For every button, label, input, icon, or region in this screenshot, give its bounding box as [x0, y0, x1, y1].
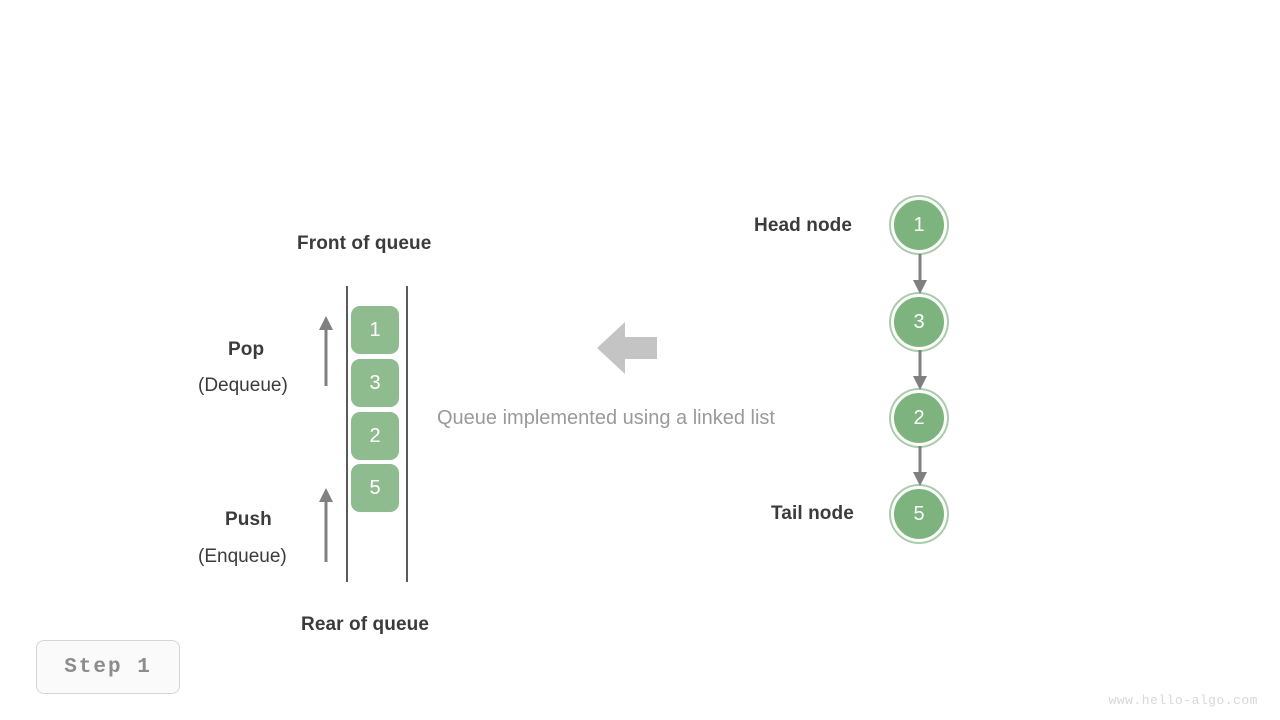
queue-rail-left	[346, 286, 348, 582]
queue-item: 3	[351, 359, 399, 407]
linked-list-node: 1	[891, 197, 947, 253]
linked-list-connector-arrow-icon	[908, 254, 932, 296]
diagram-caption: Queue implemented using a linked list	[437, 407, 775, 430]
pop-label: Pop	[228, 339, 264, 361]
linked-list-connector-arrow-icon	[908, 446, 932, 488]
linked-list-connector-arrow-icon	[908, 350, 932, 392]
linked-list-node: 5	[891, 486, 947, 542]
tail-node-label: Tail node	[771, 503, 854, 525]
watermark: www.hello-algo.com	[1109, 693, 1258, 708]
push-sublabel: (Enqueue)	[198, 546, 287, 568]
queue-item: 2	[351, 412, 399, 460]
front-of-queue-label: Front of queue	[297, 233, 431, 255]
pop-sublabel: (Dequeue)	[198, 375, 288, 397]
diagram-canvas: Front of queue 1 3 2 5 Pop (Dequeue) Pus…	[0, 0, 1280, 720]
step-badge: Step 1	[36, 640, 180, 694]
queue-rail-right	[406, 286, 408, 582]
linked-list-node: 2	[891, 390, 947, 446]
linked-list-node: 3	[891, 294, 947, 350]
queue-item: 5	[351, 464, 399, 512]
rear-of-queue-label: Rear of queue	[301, 614, 429, 636]
push-arrow-icon	[314, 486, 338, 564]
implemented-by-arrow-icon	[595, 318, 659, 378]
pop-arrow-icon	[314, 314, 338, 388]
head-node-label: Head node	[754, 215, 852, 237]
push-label: Push	[225, 509, 272, 531]
queue-item: 1	[351, 306, 399, 354]
